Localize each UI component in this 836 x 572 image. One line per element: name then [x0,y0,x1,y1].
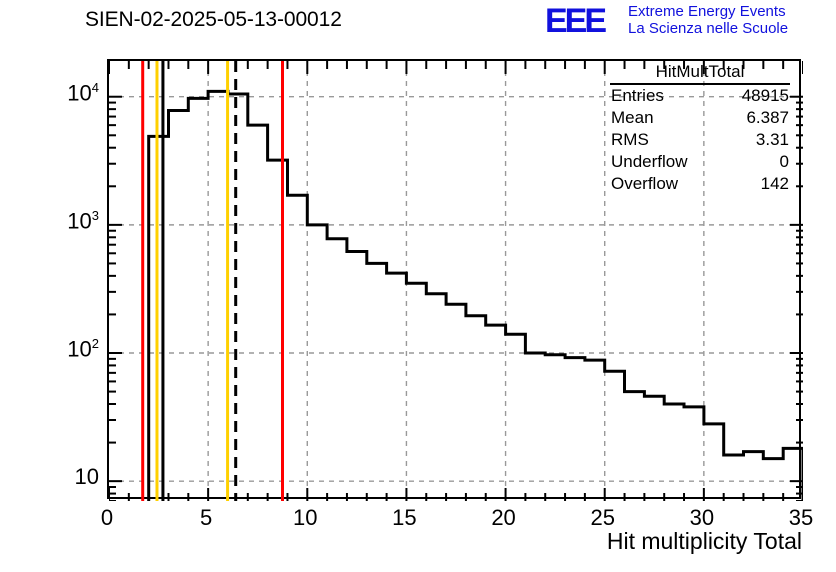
page-title: SIEN-02-2025-05-13-00012 [85,8,342,32]
stats-key: Entries [611,85,664,107]
y-tick-label: 104 [67,80,99,106]
y-tick-label: 10 [75,464,99,490]
y-tick-exponent: 3 [92,208,99,223]
stats-key: RMS [611,129,649,151]
x-tick-label: 20 [474,505,534,531]
stats-value: 48915 [742,85,789,107]
y-tick-exponent: 4 [92,80,99,95]
y-tick-exponent: 2 [92,336,99,351]
stats-row: RMS3.31 [607,129,793,151]
stats-value: 6.387 [746,107,789,129]
stats-value: 142 [761,173,789,195]
y-tick-base: 10 [67,80,91,105]
x-tick-label: 5 [176,505,236,531]
y-tick-label: 103 [67,208,99,234]
eee-logo-mark: EEE [545,4,604,38]
y-tick-base: 10 [67,336,91,361]
eee-logo-line1: Extreme Energy Events [628,3,788,20]
stats-key: Mean [611,107,654,129]
eee-logo: EEE Extreme Energy Events La Scienza nel… [545,2,835,40]
stats-box: HitMultTotal Entries48915Mean6.387RMS3.3… [607,62,793,195]
y-tick-base: 10 [75,464,99,489]
eee-logo-text: Extreme Energy Events La Scienza nelle S… [628,3,788,37]
stats-value: 0 [780,151,789,173]
stats-value: 3.31 [756,129,789,151]
stats-row: Entries48915 [607,85,793,107]
stats-rows: Entries48915Mean6.387RMS3.31Underflow0Ov… [607,85,793,195]
y-tick-base: 10 [67,208,91,233]
stats-row: Overflow142 [607,173,793,195]
root-canvas: SIEN-02-2025-05-13-00012 EEE Extreme Ene… [0,0,836,572]
eee-logo-line2: La Scienza nelle Scuole [628,20,788,37]
x-tick-label: 10 [275,505,335,531]
x-axis-title: Hit multiplicity Total [607,528,802,555]
stats-key: Underflow [611,151,688,173]
x-tick-label: 0 [77,505,137,531]
stats-row: Mean6.387 [607,107,793,129]
x-tick-label: 15 [374,505,434,531]
stats-key: Overflow [611,173,678,195]
stats-row: Underflow0 [607,151,793,173]
y-tick-label: 102 [67,336,99,362]
stats-title: HitMultTotal [610,62,790,85]
